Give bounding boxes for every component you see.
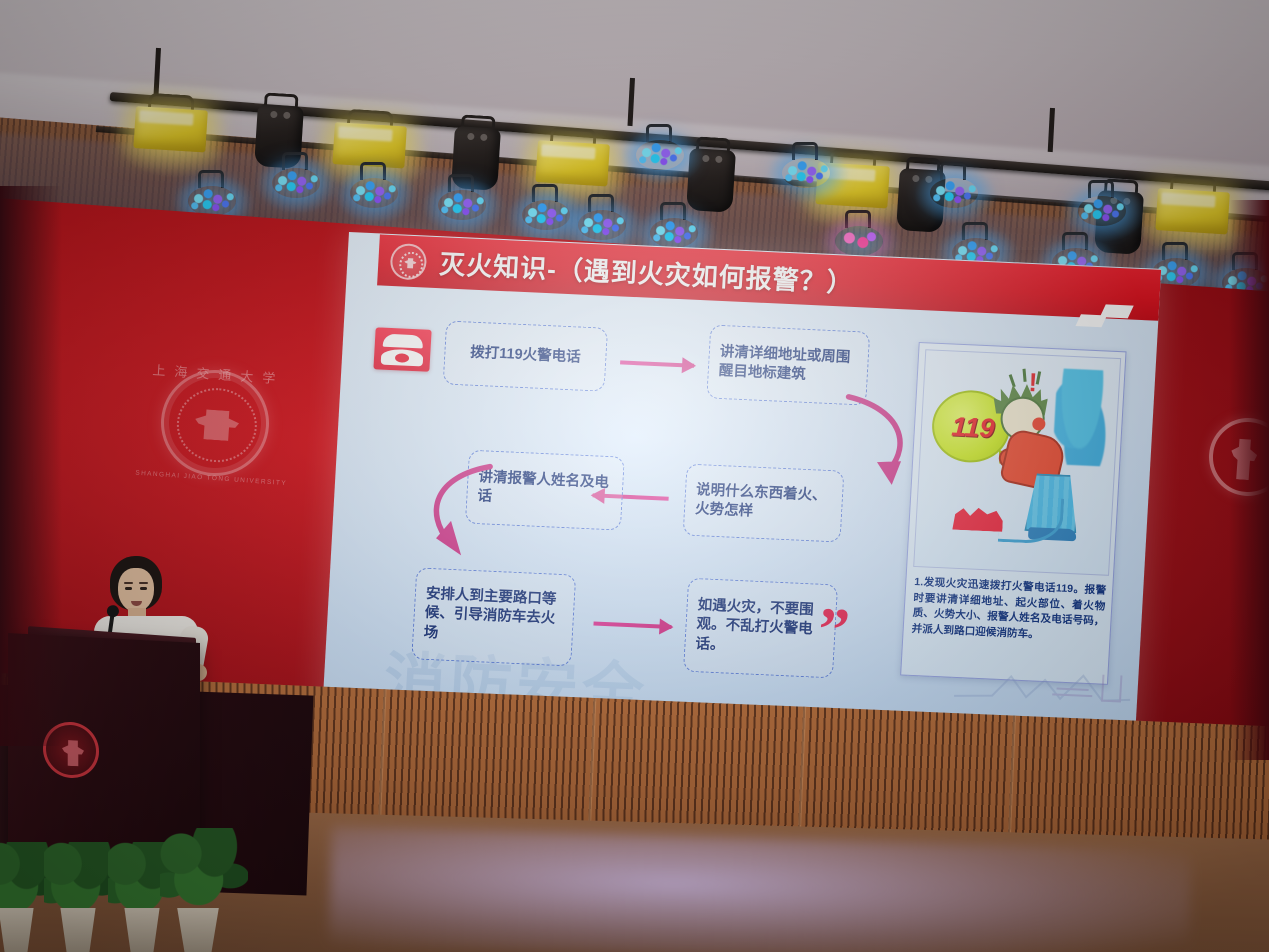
flow-step-5[interactable]: 安排人到主要路口等候、引导消防车去火场 [411,567,576,666]
telephone-icon [373,327,431,371]
cartoon-person-cheek [1032,417,1046,431]
left-edge-shading [0,186,62,746]
potted-plant [172,844,250,952]
flow-step-3[interactable]: 说明什么东西着火、火势怎样 [683,464,845,543]
flow-step-5-label: 安排人到主要路口等候、引导消防车去火场 [423,585,564,649]
projected-slide: 消防安全 灭火知识-（遇到火灾如何报警？） 拨打119火警电话 讲清详细地址或周… [322,232,1161,747]
auditorium-scene: 上海交通大学 SHANGHAI JIAO TONG UNIVERSITY 消防安… [0,0,1269,952]
illustration-artwork: ! 119 [913,349,1121,576]
flow-step-1-label: 拨打119火警电话 [470,344,581,368]
illustration-card: ! 119 1.发现火灾迅速拨打火警电话119。报警时要讲清详细地址、起火部位、… [900,342,1126,685]
fire-emblem-icon [389,242,427,280]
flow-step-2-label: 讲清详细地址或周围醒目地标建筑 [718,343,858,387]
flow-step-1[interactable]: 拨打119火警电话 [443,320,608,391]
lamp-body [133,106,207,152]
lamp-body [686,148,736,213]
red-telephone-graphic [952,502,1004,532]
rig-drop [627,78,635,126]
right-edge-shading [1229,200,1269,760]
illustration-caption: 1.发现火灾迅速拨打火警电话119。报警时要讲清详细地址、起火部位、着火物质、火… [911,575,1106,646]
sjtu-wall-logo: 上海交通大学 SHANGHAI JIAO TONG UNIVERSITY [135,357,295,489]
skyline-watermark-icon [952,660,1134,710]
arrow-step5-to-step6 [593,621,671,629]
lamp-body [535,140,609,186]
curved-arrow-left [409,457,501,565]
lamp-body [1155,188,1229,234]
flow-step-6-label: 如遇火灾，不要围观。不乱打火警电话。 [695,597,826,660]
arrow-step1-to-step2 [620,360,694,367]
rig-drop [153,48,161,96]
header-parallelogram-decoration [1078,303,1131,329]
flow-step-3-label: 说明什么东西着火、火势怎样 [695,481,833,525]
slide-title: 灭火知识-（遇到火灾如何报警？） [438,244,854,300]
quote-mark-decoration: ” [817,612,848,650]
rig-drop [1048,108,1055,152]
flow-step-6[interactable]: 如遇火灾，不要围观。不乱打火警电话。 [683,578,838,679]
